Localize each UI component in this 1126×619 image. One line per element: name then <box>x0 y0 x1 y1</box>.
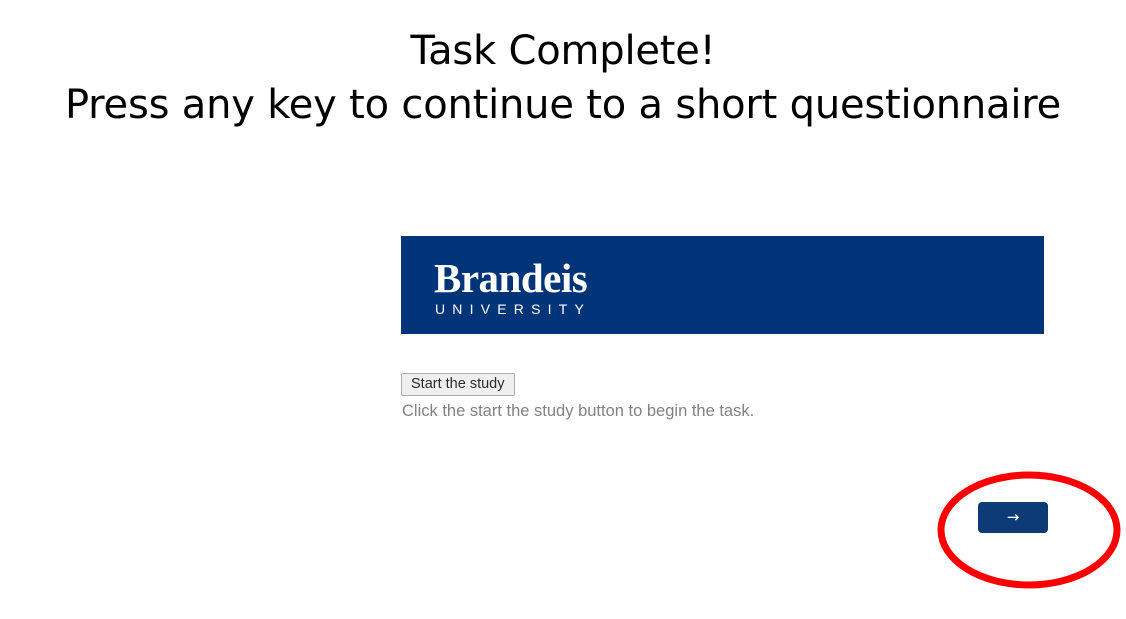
completion-header: Task Complete! Press any key to continue… <box>0 24 1126 132</box>
brandeis-wordmark: Brandeis <box>434 257 591 299</box>
next-arrow-button[interactable]: → <box>978 502 1048 533</box>
brandeis-university-subtext: UNIVERSITY <box>434 300 591 318</box>
brandeis-banner: Brandeis UNIVERSITY <box>401 236 1044 334</box>
page-title: Task Complete! <box>0 24 1126 78</box>
continue-instruction: Press any key to continue to a short que… <box>0 78 1126 132</box>
brandeis-logo: Brandeis UNIVERSITY <box>434 257 591 318</box>
study-instruction-text: Click the start the study button to begi… <box>402 401 754 421</box>
start-the-study-button[interactable]: Start the study <box>401 373 515 396</box>
study-page-container: Brandeis UNIVERSITY Start the study Clic… <box>401 236 1044 334</box>
